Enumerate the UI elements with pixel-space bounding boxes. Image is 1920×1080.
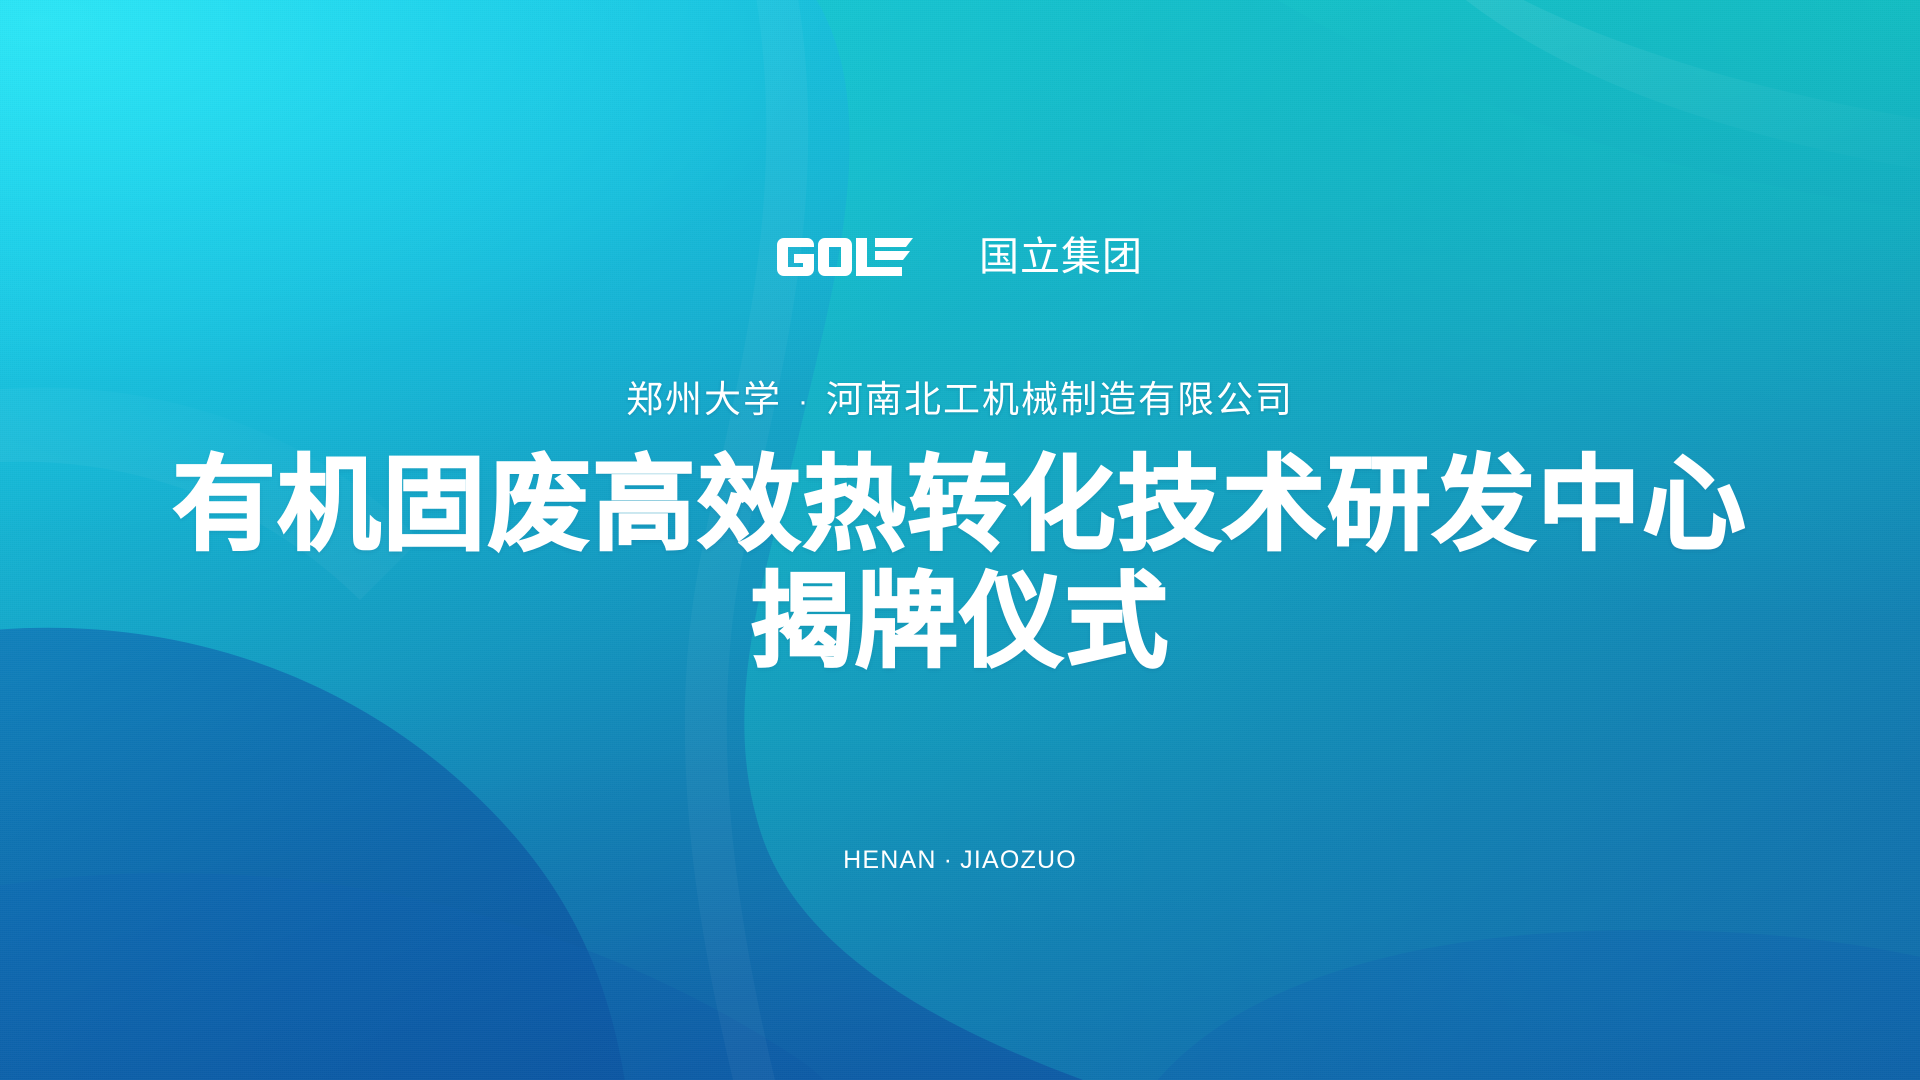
organisation-right: 河南北工机械制造有限公司: [826, 379, 1294, 420]
organisation-left: 郑州大学: [626, 379, 782, 420]
location-footer: HENAN·JIAOZUO: [0, 848, 1920, 873]
location-province: HENAN: [843, 846, 937, 874]
brand-logo-lockup: 国立集团: [0, 228, 1920, 286]
organisations-subtitle: 郑州大学·河南北工机械制造有限公司: [0, 377, 1920, 423]
location-city: JIAOZUO: [960, 846, 1077, 874]
footer-separator-dot: ·: [937, 848, 961, 873]
brand-logo-chinese-text: 国立集团: [979, 237, 1143, 277]
main-title-line-1: 有机固废高效热转化技术研发中心: [0, 446, 1920, 563]
main-title: 有机固废高效热转化技术研发中心 揭牌仪式: [0, 446, 1920, 681]
main-title-line-2: 揭牌仪式: [0, 563, 1920, 680]
slide-content: 国立集团 郑州大学·河南北工机械制造有限公司 有机固废高效热转化技术研发中心 揭…: [0, 0, 1920, 1080]
title-slide: 国立集团 郑州大学·河南北工机械制造有限公司 有机固废高效热转化技术研发中心 揭…: [0, 0, 1920, 1080]
subtitle-separator-dot: ·: [782, 383, 826, 421]
gole-wordmark-icon: [777, 234, 957, 280]
